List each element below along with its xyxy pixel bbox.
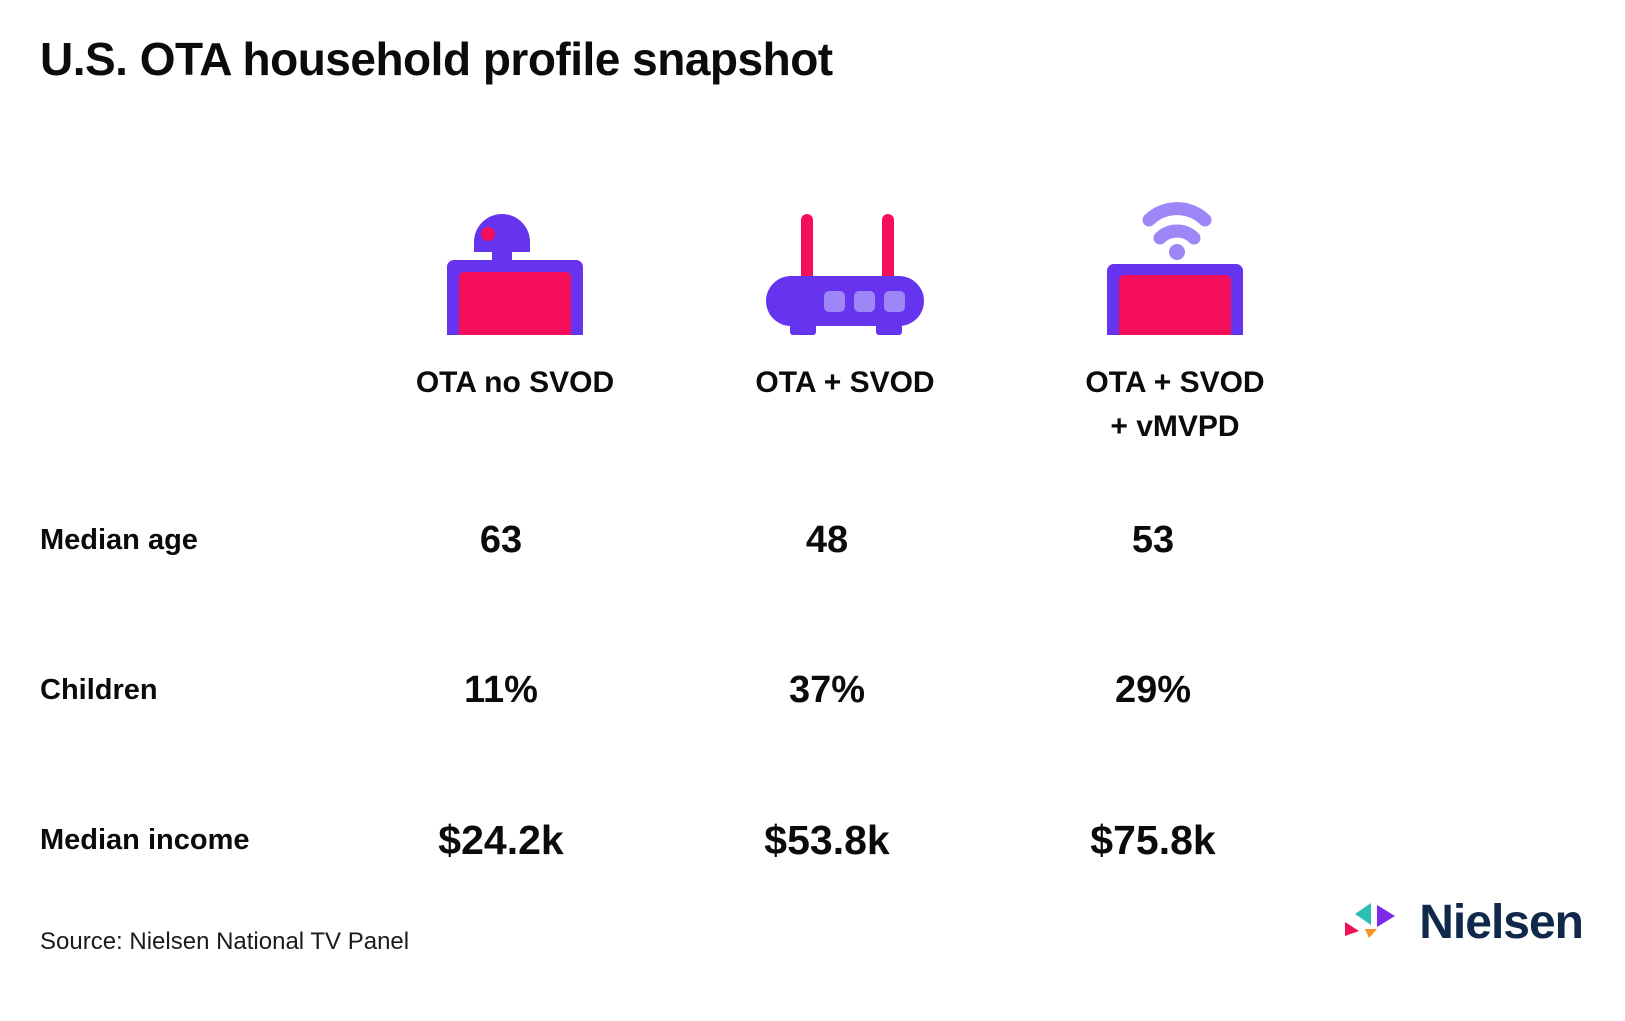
column-header-ota-no-svod: OTA no SVOD xyxy=(350,170,680,470)
column-header-label: OTA no SVOD xyxy=(416,361,614,405)
row-label-median-age: Median age xyxy=(0,465,350,615)
tv-wifi-icon xyxy=(1104,180,1246,335)
table-cell: 29% xyxy=(1010,615,1340,765)
tv-antenna-icon xyxy=(444,180,586,335)
column-header-label: OTA + SVOD xyxy=(755,361,934,405)
cell-value: 11% xyxy=(464,669,538,712)
cell-value: $53.8k xyxy=(764,817,889,864)
table-cell: 11% xyxy=(350,615,680,765)
table-cell: $24.2k xyxy=(350,765,680,915)
table-cell: 48 xyxy=(680,465,1010,615)
router-icon xyxy=(766,180,924,335)
cell-value: $75.8k xyxy=(1090,817,1215,864)
nielsen-wordmark: Nielsen xyxy=(1419,899,1583,947)
column-header-ota-svod-vmvpd: OTA + SVOD + vMVPD xyxy=(1010,170,1340,470)
cell-value: 53 xyxy=(1132,519,1174,562)
row-label-children: Children xyxy=(0,615,350,765)
cell-value: $24.2k xyxy=(438,817,563,864)
page-title: U.S. OTA household profile snapshot xyxy=(40,32,833,86)
column-header-label: OTA + SVOD + vMVPD xyxy=(1085,361,1264,448)
matrix-corner-spacer xyxy=(0,175,350,465)
table-cell: 63 xyxy=(350,465,680,615)
cell-value: 37% xyxy=(789,669,865,712)
cell-value: 48 xyxy=(806,519,848,562)
column-header-ota-plus-svod: OTA + SVOD xyxy=(680,170,1010,470)
table-cell: $75.8k xyxy=(1010,765,1340,915)
nielsen-logo: Nielsen xyxy=(1343,898,1583,947)
table-cell: 53 xyxy=(1010,465,1340,615)
cell-value: 63 xyxy=(480,519,522,562)
table-cell: $53.8k xyxy=(680,765,1010,915)
table-cell: 37% xyxy=(680,615,1010,765)
cell-value: 29% xyxy=(1115,669,1191,712)
profile-matrix: OTA no SVOD OTA + SVOD xyxy=(0,175,1340,915)
nielsen-triangles-logo xyxy=(1343,898,1405,947)
source-note: Source: Nielsen National TV Panel xyxy=(40,928,409,956)
row-label-median-income: Median income xyxy=(0,765,350,915)
